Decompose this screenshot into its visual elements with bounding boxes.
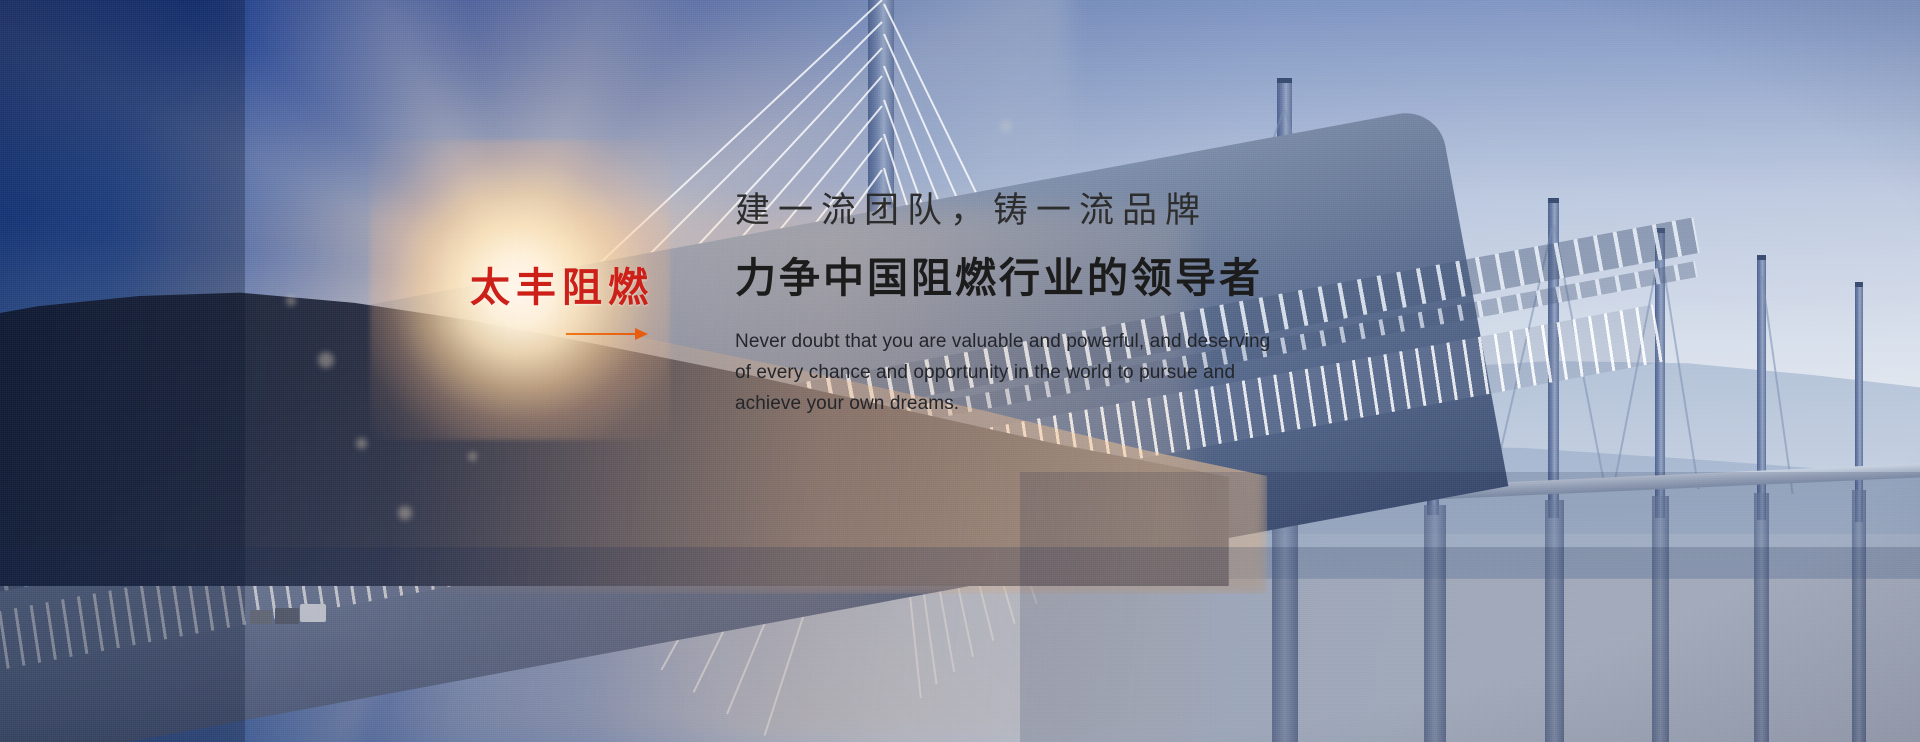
arrow-line [566, 333, 636, 335]
arrow-head [635, 328, 648, 340]
hero-description-line-1: Never doubt that you are valuable and po… [735, 327, 1355, 358]
hero-content: 太丰阻燃 建一流团队，铸一流品牌 力争中国阻燃行业的领导者 Never doub… [0, 0, 1920, 742]
hero-headline-primary: 建一流团队，铸一流品牌 [735, 190, 1355, 234]
brand-logo-text: 太丰阻燃 [470, 268, 670, 308]
hero-description-line-2: of every chance and opportunity in the w… [735, 358, 1355, 389]
arrow-right-icon [566, 328, 648, 340]
hero-description: Never doubt that you are valuable and po… [735, 327, 1355, 419]
hero-description-line-3: achieve your own dreams. [735, 389, 1355, 420]
hero-text-block: 建一流团队，铸一流品牌 力争中国阻燃行业的领导者 Never doubt tha… [735, 190, 1355, 419]
hero-headline-secondary: 力争中国阻燃行业的领导者 [735, 252, 1355, 305]
brand-logo[interactable]: 太丰阻燃 [470, 268, 670, 340]
hero-banner: 太丰阻燃 建一流团队，铸一流品牌 力争中国阻燃行业的领导者 Never doub… [0, 0, 1920, 742]
